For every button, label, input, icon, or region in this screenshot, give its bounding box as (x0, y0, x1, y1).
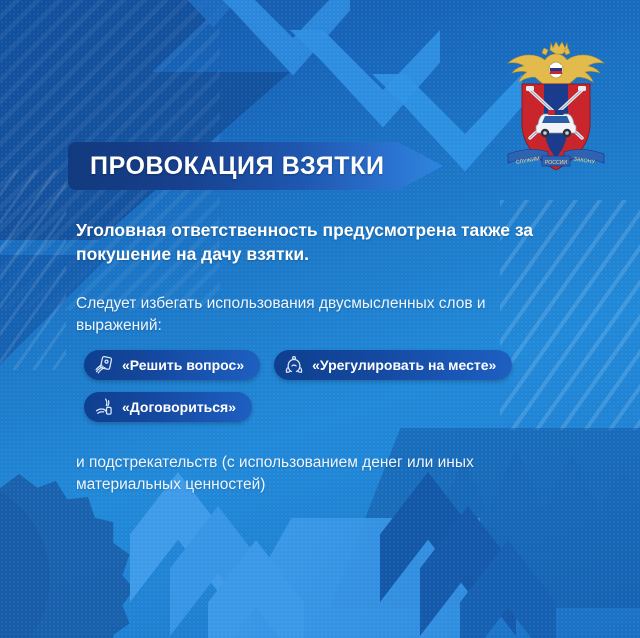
bottom-left-chevron-2-icon (170, 506, 290, 636)
bottom-right-chevron-3-icon (460, 540, 580, 638)
paragraph-incitement: и подстрекательств (с использованием ден… (76, 452, 576, 497)
bottom-left-starburst (0, 474, 134, 638)
poster-root: СЛУЖИМ ЗАКОНУ РОССИИ ПРОВОКАЦИЯ ВЗЯТКИ У… (0, 0, 640, 638)
mvd-russia-emblem: СЛУЖИМ ЗАКОНУ РОССИИ (500, 28, 612, 176)
top-chevron-2-icon (290, 30, 440, 155)
two-hands-icon (284, 355, 304, 375)
phrase-chip-uregulirovat-na-meste: «Урегулировать на месте» (274, 350, 512, 380)
page-title-banner: ПРОВОКАЦИЯ ВЗЯТКИ (68, 142, 443, 190)
phrase-chip-reshit-vopros: «Решить вопрос» (84, 350, 260, 380)
paragraph-avoid-ambiguous: Следует избегать использования двусмысле… (76, 293, 566, 337)
phrase-chip-label: «Урегулировать на месте» (312, 358, 496, 372)
phrase-chip-row-1: «Решить вопрос» «Урегулировать на месте» (84, 350, 512, 380)
top-left-chevron-block (0, 0, 290, 240)
phrase-chip-dogovoritsya: «Договориться» (84, 392, 252, 422)
phrase-chip-label: «Договориться» (122, 400, 236, 414)
top-chevron-1-icon (200, 0, 350, 103)
left-stripes (0, 170, 66, 370)
svg-text:РОССИИ: РОССИИ (545, 160, 568, 166)
bottom-light-diagonal (190, 518, 480, 638)
bottom-left-circle (0, 478, 50, 638)
lead-statement: Уголовная ответственность предусмотрена … (76, 218, 576, 266)
bottom-left-chevron-3-icon (208, 540, 328, 638)
top-chevron-4-icon (120, 0, 270, 55)
bottom-right-chevron-2-icon (420, 506, 540, 636)
phrase-chip-label: «Решить вопрос» (122, 358, 244, 372)
phrase-chip-row-2: «Договориться» (84, 392, 252, 422)
hand-offering-icon (94, 397, 114, 417)
hand-phone-icon (94, 355, 114, 375)
